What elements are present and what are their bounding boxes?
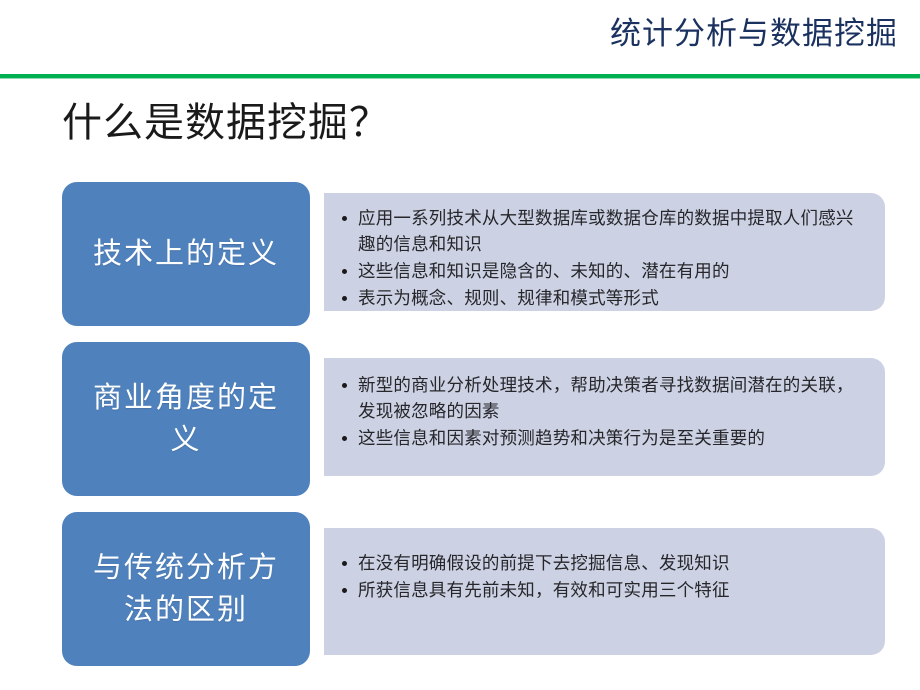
content-row: 技术上的定义 应用一系列技术从大型数据库或数据仓库的数据中提取人们感兴趣的信息和…: [0, 182, 920, 326]
list-item: 应用一系列技术从大型数据库或数据仓库的数据中提取人们感兴趣的信息和知识: [338, 205, 863, 257]
list-item: 新型的商业分析处理技术，帮助决策者寻找数据间潜在的关联，发现被忽略的因素: [338, 372, 863, 424]
row-label-text: 与传统分析方法的区别: [78, 547, 294, 631]
row-label-text: 商业角度的定义: [78, 377, 294, 461]
bullet-list: 在没有明确假设的前提下去挖掘信息、发现知识 所获信息具有先前未知，有效和可实用三…: [338, 550, 863, 603]
content-row: 与传统分析方法的区别 在没有明确假设的前提下去挖掘信息、发现知识 所获信息具有先…: [0, 512, 920, 666]
row-content-panel: 应用一系列技术从大型数据库或数据仓库的数据中提取人们感兴趣的信息和知识 这些信息…: [324, 193, 885, 311]
row-content-panel: 新型的商业分析处理技术，帮助决策者寻找数据间潜在的关联，发现被忽略的因素 这些信…: [324, 358, 885, 476]
bullet-list: 应用一系列技术从大型数据库或数据仓库的数据中提取人们感兴趣的信息和知识 这些信息…: [338, 205, 863, 311]
content-row: 商业角度的定义 新型的商业分析处理技术，帮助决策者寻找数据间潜在的关联，发现被忽…: [0, 342, 920, 496]
row-label-text: 技术上的定义: [93, 233, 279, 275]
list-item: 在没有明确假设的前提下去挖掘信息、发现知识: [338, 550, 863, 576]
content-rows: 技术上的定义 应用一系列技术从大型数据库或数据仓库的数据中提取人们感兴趣的信息和…: [0, 0, 920, 690]
list-item: 表示为概念、规则、规律和模式等形式: [338, 285, 863, 311]
row-label-box[interactable]: 技术上的定义: [62, 182, 310, 326]
row-label-box[interactable]: 与传统分析方法的区别: [62, 512, 310, 666]
slide: 统计分析与数据挖掘 什么是数据挖掘？ 技术上的定义 应用一系列技术从大型数据库或…: [0, 0, 920, 690]
row-content-panel: 在没有明确假设的前提下去挖掘信息、发现知识 所获信息具有先前未知，有效和可实用三…: [324, 528, 885, 655]
list-item: 这些信息和知识是隐含的、未知的、潜在有用的: [338, 258, 863, 284]
list-item: 所获信息具有先前未知，有效和可实用三个特征: [338, 577, 863, 603]
list-item: 这些信息和因素对预测趋势和决策行为是至关重要的: [338, 425, 863, 451]
bullet-list: 新型的商业分析处理技术，帮助决策者寻找数据间潜在的关联，发现被忽略的因素 这些信…: [338, 372, 863, 451]
row-label-box[interactable]: 商业角度的定义: [62, 342, 310, 496]
